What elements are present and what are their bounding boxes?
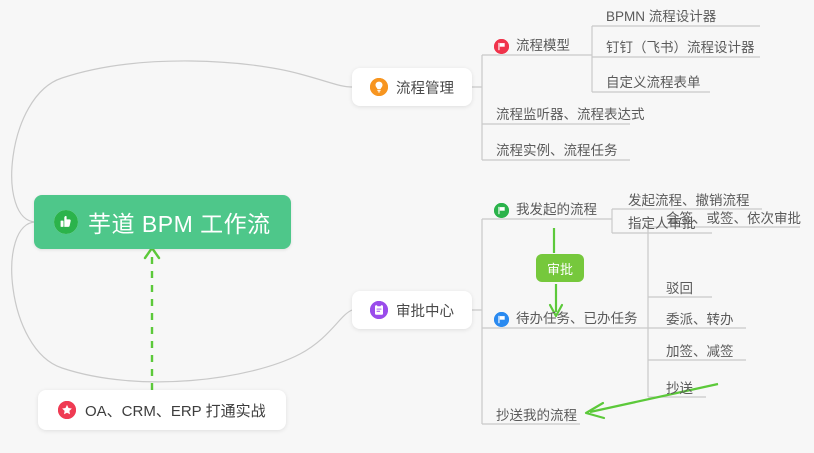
leaf-label: 抄送	[666, 377, 693, 397]
mindmap-canvas: 芋道 BPM 工作流 OA、CRM、ERP 打通实战 流程管理	[0, 0, 814, 453]
star-icon	[58, 401, 76, 419]
thumbs-up-icon	[54, 210, 78, 234]
branch-label: 审批中心	[396, 300, 454, 321]
leaf-node-custom-process-form[interactable]: 自定义流程表单	[600, 67, 707, 93]
lightbulb-icon	[370, 78, 388, 96]
leaf-node-todo-done-tasks[interactable]: 待办任务、已办任务	[492, 303, 644, 329]
leaf-node-listener-expression[interactable]: 流程监听器、流程表达式	[490, 99, 651, 125]
leaf-label: 会签、或签、依次审批	[666, 207, 801, 227]
leaf-label: 流程实例、流程任务	[496, 139, 618, 159]
approval-pill-label: 审批	[547, 259, 573, 278]
leaf-node-my-initiated[interactable]: 我发起的流程	[492, 194, 603, 220]
leaf-node-bpmn-designer[interactable]: BPMN 流程设计器	[600, 1, 722, 27]
leaf-label: 驳回	[666, 277, 693, 297]
approval-pill-node[interactable]: 审批	[536, 254, 584, 282]
branch-node-approval-center[interactable]: 审批中心	[352, 291, 472, 329]
leaf-node-dingtalk-feishu-designer[interactable]: 钉钉（飞书）流程设计器	[600, 32, 761, 58]
leaf-node-delegate-transfer[interactable]: 委派、转办	[660, 304, 740, 330]
branch-node-process-management[interactable]: 流程管理	[352, 68, 472, 106]
leaf-node-instance-task[interactable]: 流程实例、流程任务	[490, 135, 624, 161]
flag-icon	[494, 312, 509, 327]
leaf-label: 钉钉（飞书）流程设计器	[606, 36, 755, 56]
leaf-label: 抄送我的流程	[496, 404, 577, 424]
leaf-label: 流程模型	[516, 34, 570, 54]
root-node[interactable]: 芋道 BPM 工作流	[34, 195, 291, 249]
flag-icon	[494, 39, 509, 54]
leaf-label: BPMN 流程设计器	[606, 5, 716, 25]
leaf-label: 加签、减签	[666, 340, 734, 360]
leaf-node-countersign[interactable]: 会签、或签、依次审批	[660, 203, 807, 229]
root-label: 芋道 BPM 工作流	[88, 205, 271, 239]
leaf-node-reject[interactable]: 驳回	[660, 273, 699, 299]
leaf-label: 待办任务、已办任务	[516, 307, 638, 327]
leaf-node-process-model[interactable]: 流程模型	[492, 30, 576, 56]
flag-icon	[494, 203, 509, 218]
note-label: OA、CRM、ERP 打通实战	[85, 400, 266, 421]
leaf-label: 流程监听器、流程表达式	[496, 103, 645, 123]
leaf-label: 我发起的流程	[516, 198, 597, 218]
dashed-arrow-note-to-root	[145, 248, 159, 390]
leaf-node-add-remove-sign[interactable]: 加签、减签	[660, 336, 740, 362]
note-node-integration[interactable]: OA、CRM、ERP 打通实战	[38, 390, 286, 430]
branch-label: 流程管理	[396, 77, 454, 98]
clipboard-icon	[370, 301, 388, 319]
leaf-label: 委派、转办	[666, 308, 734, 328]
leaf-node-carbon-copy[interactable]: 抄送	[660, 373, 699, 399]
leaf-node-cc-to-me[interactable]: 抄送我的流程	[490, 400, 583, 426]
leaf-label: 自定义流程表单	[606, 71, 701, 91]
